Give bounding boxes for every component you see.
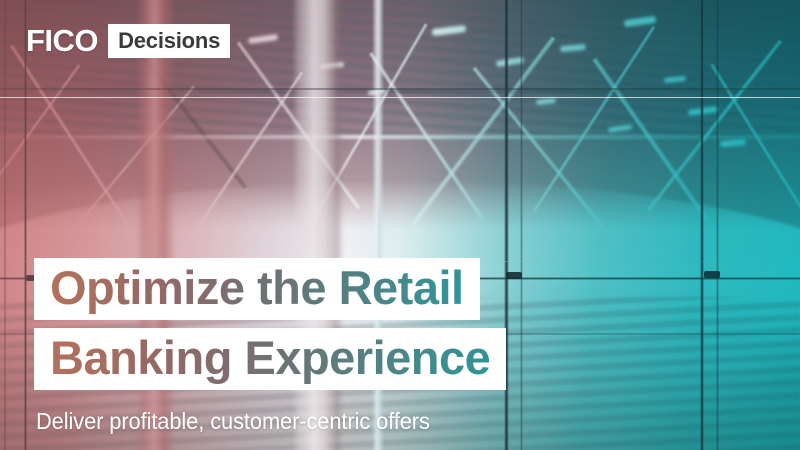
photo-hairline: [0, 97, 800, 98]
product-badge: Decisions: [108, 24, 230, 58]
headline-band-2: Banking Experience: [34, 328, 506, 390]
fico-wordmark: FICO: [26, 24, 98, 58]
headline-block: Optimize the Retail Banking Experience: [34, 258, 800, 398]
fico-decisions-hero-banner: FICO Decisions Optimize the Retail Banki…: [0, 0, 800, 450]
headline-line-1: Optimize the Retail: [50, 262, 464, 314]
headline-line-2: Banking Experience: [50, 332, 490, 384]
product-badge-label: Decisions: [118, 27, 220, 55]
subtitle-text: Deliver profitable, customer-centric off…: [36, 406, 430, 436]
brand-logo[interactable]: FICO Decisions: [26, 24, 230, 58]
headline-band-1: Optimize the Retail: [34, 258, 480, 320]
